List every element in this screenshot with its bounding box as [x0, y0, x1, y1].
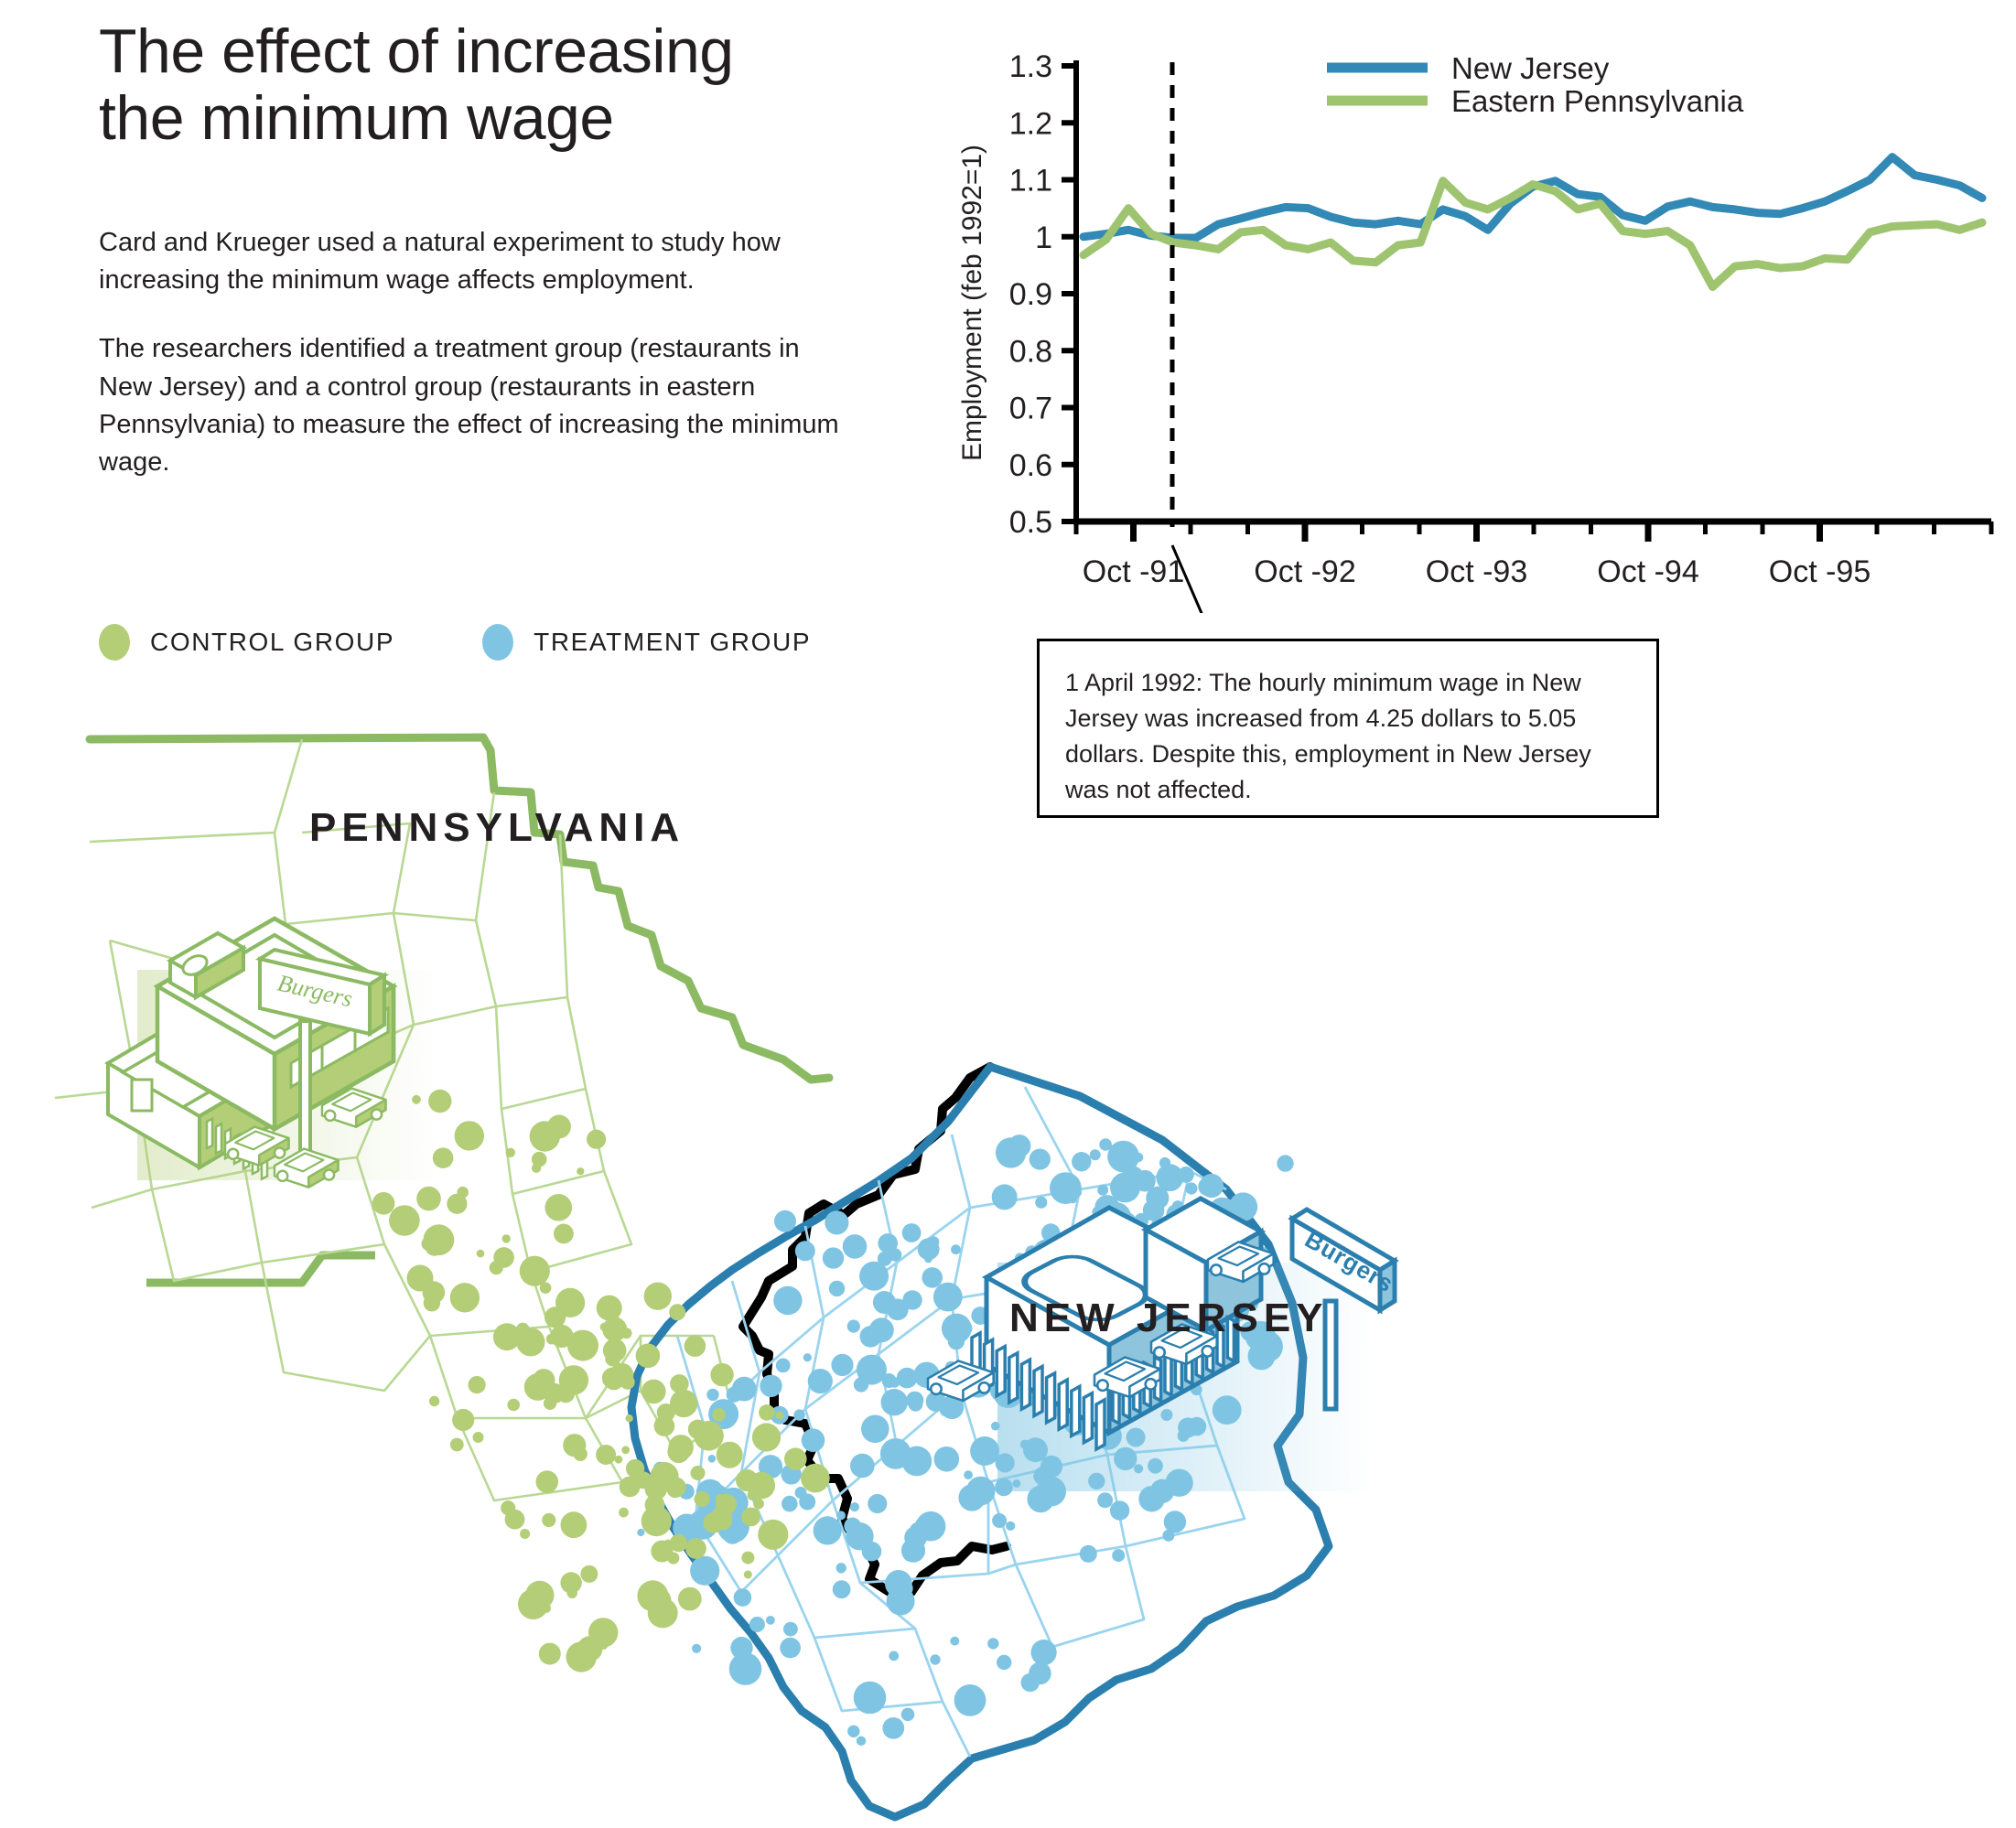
pa-restaurant-dot — [547, 1115, 571, 1139]
y-tick-label: 1.3 — [1009, 49, 1052, 84]
nj-restaurant-dot — [850, 1502, 859, 1511]
nj-restaurant-dot — [795, 1241, 815, 1261]
nj-restaurant-dot — [749, 1617, 765, 1632]
pa-county-line — [152, 1171, 262, 1281]
nj-restaurant-dot — [1185, 1182, 1197, 1194]
pa-restaurant-dot — [507, 1399, 520, 1412]
nj-restaurant-dot — [933, 1283, 963, 1312]
nj-restaurant-dot — [898, 1581, 913, 1597]
pa-restaurant-dot — [636, 1344, 661, 1369]
nj-restaurant-dot — [1164, 1511, 1186, 1532]
x-tick-label: Oct -92 — [1254, 554, 1355, 589]
pa-restaurant-dot — [691, 1466, 706, 1480]
pa-restaurant-dot — [625, 1414, 632, 1422]
nj-restaurant-dot — [901, 1539, 925, 1563]
nj-restaurant-dot — [870, 1428, 884, 1442]
nj-restaurant-dot — [901, 1446, 932, 1477]
pa-restaurant-dot — [560, 1572, 581, 1593]
nj-restaurant-dot — [857, 1737, 866, 1746]
nj-restaurant-dot — [1031, 1640, 1057, 1665]
nj-restaurant-dot — [782, 1496, 798, 1512]
pa-restaurant-dot — [490, 1261, 503, 1274]
nj-restaurant-dot — [836, 1511, 846, 1520]
pa-door — [132, 1080, 152, 1111]
nj-restaurant-dot — [1030, 1149, 1051, 1170]
pa-restaurant-dot — [603, 1306, 620, 1322]
nj-awning-stripe — [1083, 1393, 1092, 1443]
nj-restaurant-dot — [942, 1314, 972, 1344]
pa-restaurant-dot — [559, 1365, 588, 1394]
intro-text-block: Card and Krueger used a natural experime… — [99, 224, 849, 512]
pa-restaurant-dot — [502, 1234, 511, 1242]
pa-restaurant-dot — [748, 1489, 760, 1501]
nj-county-line — [988, 1565, 1016, 1574]
nj-restaurant-dot — [906, 1392, 923, 1409]
pa-restaurant-dot — [554, 1224, 574, 1244]
pa-restaurant-dot — [457, 1187, 469, 1199]
pa-restaurant-dot — [641, 1506, 672, 1536]
nj-awning-stripe — [1021, 1360, 1030, 1409]
pa-restaurant-dot — [473, 1432, 484, 1443]
nj-restaurant-dot — [1021, 1673, 1040, 1692]
y-tick-label: 1.1 — [1009, 164, 1052, 199]
nj-restaurant-dot — [1035, 1197, 1047, 1209]
pa-restaurant-dot — [577, 1167, 584, 1175]
nj-restaurant-dot — [958, 1484, 985, 1511]
nj-restaurant-dot — [1200, 1174, 1224, 1198]
nj-restaurant-dot — [850, 1454, 875, 1479]
pa-restaurant-dot — [450, 1438, 464, 1452]
nj-awning-stripe — [1034, 1367, 1042, 1416]
y-tick-label: 0.6 — [1009, 448, 1052, 483]
y-tick-label: 1 — [1035, 220, 1052, 255]
pa-restaurant-dot — [389, 1205, 420, 1236]
pa-restaurant-dot — [637, 1580, 668, 1611]
pa-restaurant-dot — [741, 1508, 760, 1527]
pa-restaurant-dot — [539, 1643, 561, 1665]
pa-restaurant-dot — [654, 1415, 675, 1436]
pa-restaurant-dot — [717, 1442, 743, 1468]
pa-restaurant-dot — [712, 1408, 726, 1422]
nj-restaurant-dot — [833, 1580, 851, 1598]
y-tick-label: 1.2 — [1009, 106, 1052, 141]
pa-restaurant-dot — [545, 1194, 573, 1221]
nj-restaurant-dot — [970, 1436, 999, 1466]
nj-restaurant-dot — [776, 1359, 791, 1373]
nj-restaurant-dot — [692, 1644, 701, 1653]
nj-restaurant-dot — [799, 1494, 815, 1511]
pa-restaurant-dot — [695, 1491, 710, 1507]
pa-restaurant-dot — [667, 1441, 690, 1464]
pa-restaurant-dot — [546, 1334, 557, 1345]
pa-restaurant-dot — [577, 1636, 603, 1661]
pa-restaurant-dot — [429, 1396, 439, 1406]
pa-restaurant-dot — [715, 1512, 732, 1530]
nj-restaurant-dot — [1231, 1199, 1244, 1212]
pa-restaurant-dot — [587, 1130, 606, 1149]
nj-restaurant-dot — [802, 1428, 825, 1452]
pa-restaurant-dot — [678, 1587, 702, 1611]
pa-restaurant-dot — [645, 1478, 667, 1500]
nj-awning-stripe — [1072, 1386, 1080, 1436]
pa-restaurant-dot — [644, 1283, 672, 1310]
pa-restaurant-dot — [520, 1529, 530, 1539]
nj-restaurant-dot — [825, 1526, 841, 1543]
pa-restaurant-dot — [685, 1538, 706, 1559]
nj-restaurant-dot — [1097, 1185, 1108, 1196]
pa-restaurant-dot — [468, 1376, 485, 1393]
employment-line-chart: 0.50.60.70.80.911.11.21.3Employment (feb… — [943, 46, 1995, 613]
x-tick-label: Oct -94 — [1597, 554, 1698, 589]
pa-restaurant-dot — [736, 1469, 758, 1491]
nj-awning-stripe — [1096, 1400, 1105, 1449]
nj-awning-stripe — [1009, 1353, 1018, 1403]
y-tick-label: 0.7 — [1009, 392, 1052, 426]
pa-awning-stripe — [216, 1124, 221, 1153]
pa-county-line — [496, 997, 586, 1109]
nj-awning-stripe — [997, 1347, 1005, 1396]
nj-restaurant-dot — [930, 1654, 940, 1664]
pa-restaurant-dot — [574, 1447, 588, 1461]
map-label-pennsylvania: PENNSYLVANIA — [309, 805, 685, 851]
nj-restaurant-dot — [902, 1290, 922, 1309]
pa-restaurant-dot — [801, 1464, 830, 1493]
pa-restaurant-dot — [424, 1295, 440, 1311]
nj-restaurant-dot — [836, 1563, 846, 1573]
nj-restaurant-dot — [1156, 1164, 1183, 1191]
pa-restaurant-dot — [555, 1288, 585, 1317]
nj-restaurant-dot — [889, 1651, 899, 1661]
pa-restaurant-dot — [536, 1470, 559, 1493]
nj-restaurant-dot — [882, 1373, 897, 1388]
new-jersey-restaurant-illustration: Burgers — [928, 1199, 1398, 1491]
pa-restaurant-dot — [452, 1409, 474, 1431]
nj-restaurant-dot — [859, 1262, 889, 1291]
pa-restaurant-dot — [666, 1478, 686, 1498]
nj-restaurant-dot — [934, 1446, 960, 1472]
nj-restaurant-dot — [1006, 1522, 1015, 1531]
pa-restaurant-dot — [407, 1265, 434, 1292]
nj-restaurant-dot — [902, 1223, 922, 1242]
pa-restaurant-dot — [596, 1445, 616, 1465]
pa-restaurant-dot — [619, 1508, 629, 1518]
pa-restaurant-dot — [670, 1390, 697, 1417]
nj-restaurant-dot — [859, 1688, 869, 1698]
nj-awning-stripe — [1047, 1373, 1055, 1423]
nj-restaurant-dot — [843, 1234, 868, 1259]
nj-restaurant-dot — [881, 1389, 908, 1415]
pa-restaurant-dot — [621, 1328, 632, 1339]
pa-restaurant-dot — [669, 1304, 685, 1320]
pa-restaurant-dot — [775, 1412, 783, 1420]
pa-county-line — [90, 739, 302, 842]
nj-restaurant-dot — [928, 1236, 939, 1247]
pa-restaurant-dot — [600, 1323, 609, 1331]
pa-restaurant-dot — [744, 1571, 752, 1579]
pa-restaurant-dot — [621, 1446, 630, 1454]
pa-restaurant-dot — [518, 1589, 548, 1619]
nj-restaurant-dot — [992, 1513, 1007, 1528]
nj-restaurant-dot — [780, 1638, 801, 1659]
intro-paragraph-2: The researchers identified a treatment g… — [99, 330, 849, 481]
nj-restaurant-dot — [1277, 1155, 1293, 1171]
chart-legend-label: New Jersey — [1451, 51, 1610, 85]
nj-restaurant-dot — [854, 1682, 887, 1715]
y-tick-label: 0.8 — [1009, 334, 1052, 369]
map-svg: BurgersBurgers — [0, 695, 1428, 1828]
pa-county-line — [92, 1189, 152, 1208]
x-tick-label: Oct -93 — [1426, 554, 1527, 589]
nj-restaurant-dot — [992, 1184, 1018, 1210]
control-group-dot-icon — [99, 624, 130, 661]
pa-restaurant-dot — [626, 1459, 644, 1478]
nj-restaurant-dot — [987, 1638, 998, 1649]
pa-restaurant-dot — [580, 1565, 598, 1583]
pa-restaurant-dot — [516, 1328, 544, 1356]
nj-restaurant-dot — [1008, 1134, 1031, 1157]
pa-restaurant-dot — [520, 1256, 550, 1286]
pa-awning-stripe — [207, 1119, 212, 1148]
nj-restaurant-dot — [766, 1616, 775, 1625]
nj-restaurant-dot — [847, 1726, 859, 1737]
nj-restaurant-dot — [901, 1708, 915, 1722]
nj-restaurant-dot — [1069, 1196, 1076, 1203]
nj-restaurant-dot — [690, 1556, 719, 1586]
nj-restaurant-dot — [1080, 1545, 1097, 1563]
nj-restaurant-dot — [732, 1377, 757, 1402]
nj-restaurant-dot — [706, 1389, 718, 1401]
pa-restaurant-dot — [532, 1164, 541, 1173]
pa-restaurant-dot — [685, 1335, 706, 1357]
pa-restaurant-dot — [501, 1500, 515, 1515]
nj-restaurant-dot — [1090, 1149, 1101, 1160]
nj-restaurant-dot — [760, 1375, 782, 1397]
pa-restaurant-dot — [477, 1250, 485, 1258]
intro-paragraph-1: Card and Krueger used a natural experime… — [99, 224, 849, 299]
control-group-label: CONTROL GROUP — [150, 628, 394, 657]
pa-restaurant-dot — [710, 1363, 733, 1386]
chart-legend-label: Eastern Pennsylvania — [1451, 84, 1744, 118]
pa-restaurant-dot — [567, 1330, 598, 1361]
nj-restaurant-dot — [951, 1244, 961, 1254]
pa-restaurant-dot — [651, 1541, 673, 1563]
nj-restaurant-dot — [882, 1717, 904, 1739]
nj-restaurant-dot — [1134, 1153, 1143, 1162]
pa-restaurant-dot — [758, 1520, 788, 1550]
pa-restaurant-dot — [533, 1369, 555, 1392]
x-tick-label: Oct -91 — [1083, 554, 1184, 589]
nj-restaurant-dot — [954, 1684, 986, 1716]
nj-restaurant-dot — [831, 1354, 853, 1376]
nj-restaurant-dot — [823, 1247, 844, 1268]
pennsylvania-restaurant-illustration: Burgers — [108, 919, 439, 1188]
page-title: The effect of increasingthe minimum wage — [99, 18, 922, 153]
nj-restaurant-dot — [868, 1494, 887, 1513]
pa-restaurant-dot — [602, 1368, 624, 1390]
legend-item-treatment-group: TREATMENT GROUP — [482, 624, 811, 661]
nj-restaurant-dot — [829, 1281, 845, 1296]
pa-restaurant-dot — [741, 1552, 754, 1565]
pa-restaurant-dot — [620, 1477, 641, 1498]
pa-restaurant-dot — [603, 1339, 627, 1362]
pa-restaurant-dot — [372, 1192, 395, 1215]
nj-restaurant-dot — [964, 1470, 973, 1479]
nj-restaurant-dot — [793, 1409, 804, 1420]
pa-restaurant-dot — [506, 1148, 515, 1157]
nj-restaurant-dot — [897, 1368, 918, 1389]
nj-restaurant-dot — [1097, 1492, 1113, 1508]
pa-restaurant-dot — [759, 1404, 775, 1421]
pa-restaurant-dot — [416, 1187, 441, 1211]
pa-restaurant-dot — [450, 1283, 480, 1312]
nj-restaurant-dot — [873, 1291, 896, 1314]
nj-restaurant-dot — [729, 1652, 762, 1685]
nj-restaurant-dot — [637, 1529, 644, 1536]
nj-restaurant-dot — [847, 1320, 860, 1333]
pa-restaurant-dot — [424, 1224, 455, 1255]
chart-svg: 0.50.60.70.80.911.11.21.3Employment (feb… — [943, 46, 1995, 613]
nj-restaurant-dot — [997, 1655, 1011, 1670]
nj-restaurant-dot — [774, 1210, 796, 1232]
nj-awning-stripe — [1059, 1380, 1067, 1429]
nj-restaurant-dot — [783, 1622, 798, 1637]
pa-restaurant-dot — [641, 1380, 666, 1404]
pa-county-line — [496, 834, 567, 1006]
map-illustration: BurgersBurgers — [0, 695, 1428, 1828]
pa-restaurant-dot — [716, 1494, 726, 1504]
nj-restaurant-dot — [825, 1210, 848, 1234]
series-line-eastern-pennsylvania — [1083, 181, 1982, 287]
pa-restaurant-dot — [455, 1121, 484, 1150]
treatment-group-label: TREATMENT GROUP — [534, 628, 811, 657]
nj-restaurant-dot — [922, 1267, 943, 1288]
series-line-new-jersey — [1083, 157, 1982, 238]
nj-restaurant-dot — [1110, 1500, 1129, 1520]
nj-restaurant-dot — [845, 1518, 859, 1532]
pa-restaurant-dot — [561, 1511, 588, 1538]
map-label-new-jersey: NEW JERSEY — [1009, 1296, 1329, 1341]
nj-restaurant-dot — [950, 1637, 959, 1646]
nj-restaurant-dot — [808, 1369, 833, 1393]
pa-restaurant-dot — [694, 1421, 724, 1451]
pa-restaurant-dot — [784, 1447, 807, 1470]
y-axis-title: Employment (feb 1992=1) — [957, 145, 987, 461]
nj-restaurant-dot — [1072, 1152, 1091, 1171]
nj-restaurant-dot — [854, 1377, 868, 1392]
pa-restaurant-dot — [493, 1323, 521, 1350]
nj-restaurant-dot — [878, 1233, 898, 1253]
nj-restaurant-dot — [860, 1326, 882, 1348]
y-tick-label: 0.9 — [1009, 277, 1052, 312]
pa-restaurant-dot — [752, 1423, 781, 1451]
treatment-group-dot-icon — [482, 624, 513, 661]
nj-restaurant-dot — [734, 1588, 752, 1607]
group-legend: CONTROL GROUP TREATMENT GROUP — [99, 624, 811, 661]
pa-restaurant-dot — [542, 1513, 555, 1527]
pa-burgers-sign-side — [370, 975, 384, 1034]
legend-item-control-group: CONTROL GROUP — [99, 624, 394, 661]
nj-restaurant-dot — [708, 1455, 717, 1463]
pa-restaurant-dot — [544, 1397, 556, 1410]
nj-restaurant-dot — [1112, 1549, 1125, 1562]
y-tick-label: 0.5 — [1009, 505, 1052, 540]
x-tick-label: Oct -95 — [1769, 554, 1870, 589]
nj-restaurant-dot — [803, 1353, 812, 1361]
nj-restaurant-dot — [773, 1286, 802, 1315]
